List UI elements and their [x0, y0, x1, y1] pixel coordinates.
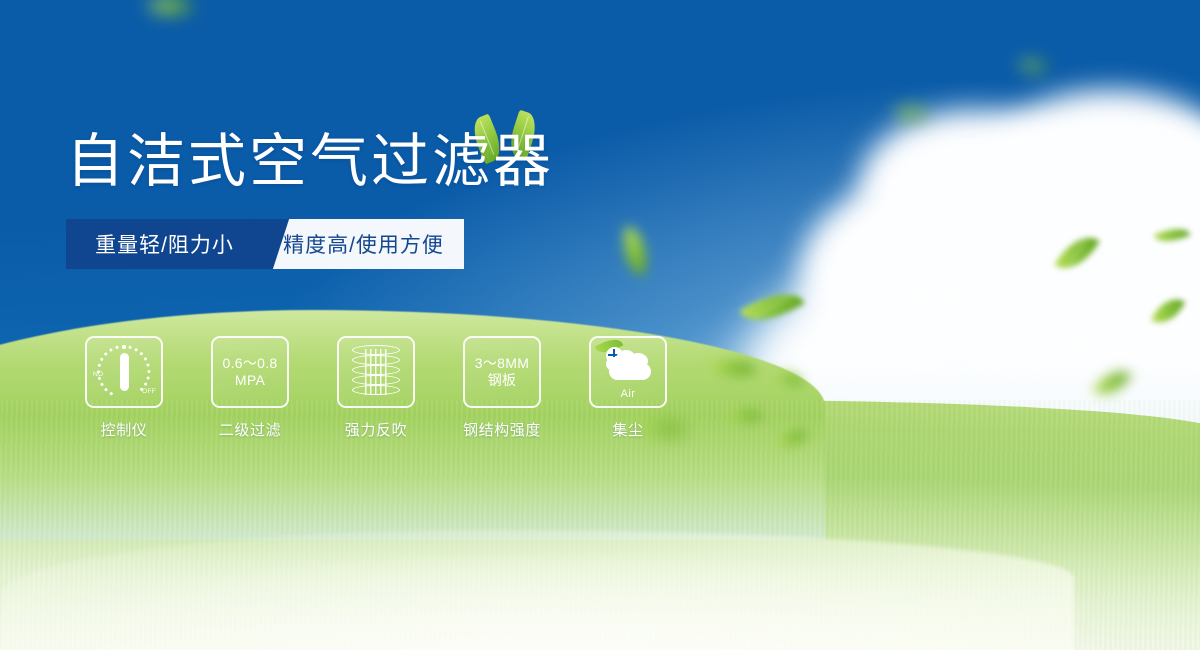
feature-label: 控制仪	[101, 419, 148, 440]
feature-label: 二级过滤	[219, 419, 281, 440]
air-cloud-icon: Air	[600, 344, 656, 400]
filter-coil-icon	[352, 345, 400, 399]
dial-on-label: NO	[93, 371, 103, 378]
feature-icon-box: 0.6～0.8 MPA	[211, 336, 289, 408]
cloud-sun-icon: Air	[600, 344, 656, 384]
subtitle-right: 精度高/使用方便	[263, 219, 464, 269]
feature-item-controller[interactable]: NO OFF 控制仪	[72, 336, 176, 440]
steel-value-line2: 钢板	[488, 372, 517, 389]
feature-item-two-stage-filter[interactable]: 0.6～0.8 MPA 二级过滤	[198, 336, 302, 440]
product-banner: 自洁式空气过滤器 重量轻/阻力小 精度高/使用方便	[0, 0, 1200, 650]
steel-value-line1: 3～8MM	[475, 355, 529, 372]
dial-indicator	[120, 353, 129, 391]
subtitle-left: 重量轻/阻力小	[66, 219, 263, 269]
field-sun-glow	[0, 510, 1200, 650]
feature-item-dust-collection[interactable]: Air 集尘	[576, 336, 680, 440]
feature-item-back-blow[interactable]: 强力反吹	[324, 336, 428, 440]
cloud-body	[609, 363, 651, 380]
page-title: 自洁式空气过滤器	[66, 132, 766, 193]
feature-icon-box	[337, 336, 415, 408]
feature-icon-box: NO OFF	[85, 336, 163, 408]
feature-item-steel-strength[interactable]: 3～8MM 钢板 钢结构强度	[450, 336, 554, 440]
feature-label: 集尘	[612, 419, 643, 440]
banner-content: 自洁式空气过滤器 重量轻/阻力小 精度高/使用方便	[66, 132, 766, 269]
air-label: Air	[600, 388, 656, 400]
feature-label: 强力反吹	[345, 419, 407, 440]
feature-icon-box: Air	[589, 336, 667, 408]
feature-list: NO OFF 控制仪 0.6～0.8 MPA 二级过滤	[72, 336, 680, 440]
feature-icon-box: 3～8MM 钢板	[463, 336, 541, 408]
subtitle-bar: 重量轻/阻力小 精度高/使用方便	[66, 219, 464, 269]
pressure-value-line1: 0.6～0.8	[222, 355, 277, 372]
pressure-value-line2: MPA	[235, 372, 265, 389]
feature-label: 钢结构强度	[463, 419, 541, 440]
dial-off-label: OFF	[142, 388, 156, 395]
control-dial-icon: NO OFF	[94, 344, 154, 400]
